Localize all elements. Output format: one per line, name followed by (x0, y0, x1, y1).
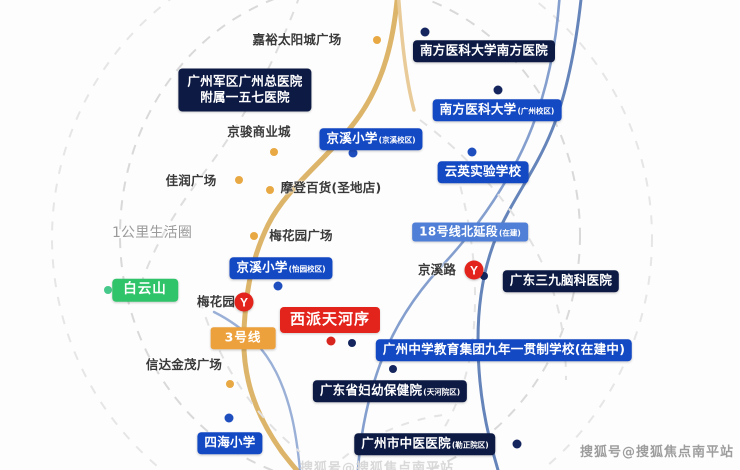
station-label-jingxilu: 京溪路 (418, 264, 456, 277)
poi-dot-jiayu (373, 36, 381, 44)
station-label-meihuayuan: 梅花园 (197, 296, 235, 309)
chip-line-2: 附属一五七医院 (187, 90, 302, 106)
poi-meihuayuan-plaza: 梅花园广场 (269, 230, 333, 243)
chip-guangzhou-tcm-hospital[interactable]: 广州市中医医院 (勒正院区) (354, 433, 495, 455)
life-circle-label: 1公里生活圈 (112, 226, 192, 240)
chip-metro-line-18-north-extension[interactable]: 18号线北延段 (在建) (412, 223, 528, 242)
chip-text: 3号线 (225, 331, 262, 344)
chip-text: 西派天河序 (290, 312, 370, 327)
poi-dot-meihuayuan-plaza (250, 232, 258, 240)
poi-dot-baiyun-mountain (104, 286, 112, 294)
poi-jiarun-plaza: 佳润广场 (166, 175, 217, 188)
chip-text: 广东省妇幼保健院 (320, 384, 422, 397)
dashed-path-east (420, 170, 475, 462)
poi-dot-xipai-tianhexu (327, 337, 336, 346)
poi-dot-jiarun (235, 176, 243, 184)
chip-sihai-primary-school[interactable]: 四海小学 (197, 432, 262, 454)
poi-modern-department-store: 摩登百货(圣地店) (281, 182, 382, 195)
poi-dot-xinda-jinmao (226, 380, 234, 388)
watermark-ghost-text: 搜狐号@搜狐焦点南平站 (300, 457, 454, 470)
chip-nanfang-medical-university[interactable]: 南方医科大学 (广州校区) (433, 99, 562, 121)
chip-subtext: (京溪校区) (379, 136, 416, 144)
poi-dot-sihai-primary (225, 414, 234, 423)
chip-xipai-tianhexu-project[interactable]: 西派天河序 (280, 307, 380, 333)
metro-glyph: Y (470, 263, 478, 277)
poi-dot-jingxi-primary-jingxi (349, 149, 358, 158)
poi-dot-school-group (348, 339, 356, 347)
metro-station-icon-meihuayuan[interactable]: Y (235, 293, 254, 312)
poi-dot-nanfang-university (494, 86, 503, 95)
chip-text: 白云山 (123, 283, 167, 297)
poi-xinda-jinmao-plaza: 信达金茂广场 (146, 359, 222, 372)
gold-road-branch (398, 0, 414, 110)
chip-subtext: (怡园校区) (289, 265, 326, 273)
poi-dot-jingxi-primary-yiyuan (274, 282, 283, 291)
chip-text: 18号线北延段 (419, 226, 498, 238)
chip-text: 四海小学 (204, 436, 255, 449)
chip-text: 广州中学教育集团九年一贯制学校(在建中) (383, 343, 625, 356)
chip-line-1: 广州军区广州总医院 (187, 74, 302, 90)
chip-guangzhou-middle-school-group[interactable]: 广州中学教育集团九年一贯制学校(在建中) (376, 339, 632, 361)
poi-dot-yunying-school (468, 148, 477, 157)
chip-subtext: (广州校区) (517, 107, 554, 115)
chip-jingxi-primary-yiyuan-campus[interactable]: 京溪小学 (怡园校区) (229, 257, 332, 279)
chip-subtext: (天河院区) (423, 388, 460, 396)
chip-text: 京溪小学 (326, 132, 377, 145)
chip-guangdong-maternal-child-hospital[interactable]: 广东省妇幼保健院 (天河院区) (313, 380, 467, 402)
poi-dot-nanfang-hospital (421, 28, 430, 37)
poi-dot-maternal-hospital (389, 365, 397, 373)
chip-metro-line-3[interactable]: 3号线 (211, 327, 276, 349)
chip-baiyun-mountain[interactable]: 白云山 (112, 279, 178, 302)
chip-guangzhou-military-hospital[interactable]: 广州军区广州总医院 附属一五七医院 (178, 69, 311, 112)
chip-text: 南方医科大学南方医院 (420, 44, 548, 57)
poi-dot-tcm-hospital (513, 440, 522, 449)
metro-glyph: Y (240, 295, 248, 309)
chip-subtext: (在建) (499, 230, 521, 238)
poi-dot-jingjun (270, 148, 278, 156)
poi-dot-modern-store (266, 186, 274, 194)
location-map: 1公里生活圈 嘉裕太阳城广场 京骏商业城 佳润广场 摩登百货(圣地店) 梅花园广… (0, 0, 740, 470)
chip-text: 南方医科大学 (440, 103, 517, 116)
poi-jiayu-plaza: 嘉裕太阳城广场 (253, 34, 342, 47)
chip-text: 云英实验学校 (445, 165, 522, 178)
chip-jingxi-primary-jingxi-campus[interactable]: 京溪小学 (京溪校区) (319, 128, 422, 150)
poi-jingjun-commercial-city: 京骏商业城 (227, 126, 291, 139)
chip-guangdong-sanjiu-brain-hospital[interactable]: 广东三九脑科医院 (503, 270, 619, 292)
chip-yunying-experimental-school[interactable]: 云英实验学校 (438, 161, 529, 183)
chip-text: 京溪小学 (236, 261, 287, 274)
metro-station-icon-jingxilu[interactable]: Y (465, 261, 484, 280)
watermark-text: 搜狐号@搜狐焦点南平站 (580, 441, 734, 460)
chip-nanfang-hospital[interactable]: 南方医科大学南方医院 (413, 40, 555, 62)
chip-text: 广州市中医医院 (361, 437, 451, 450)
chip-subtext: (勒正院区) (452, 441, 489, 449)
chip-text: 广东三九脑科医院 (510, 274, 612, 287)
